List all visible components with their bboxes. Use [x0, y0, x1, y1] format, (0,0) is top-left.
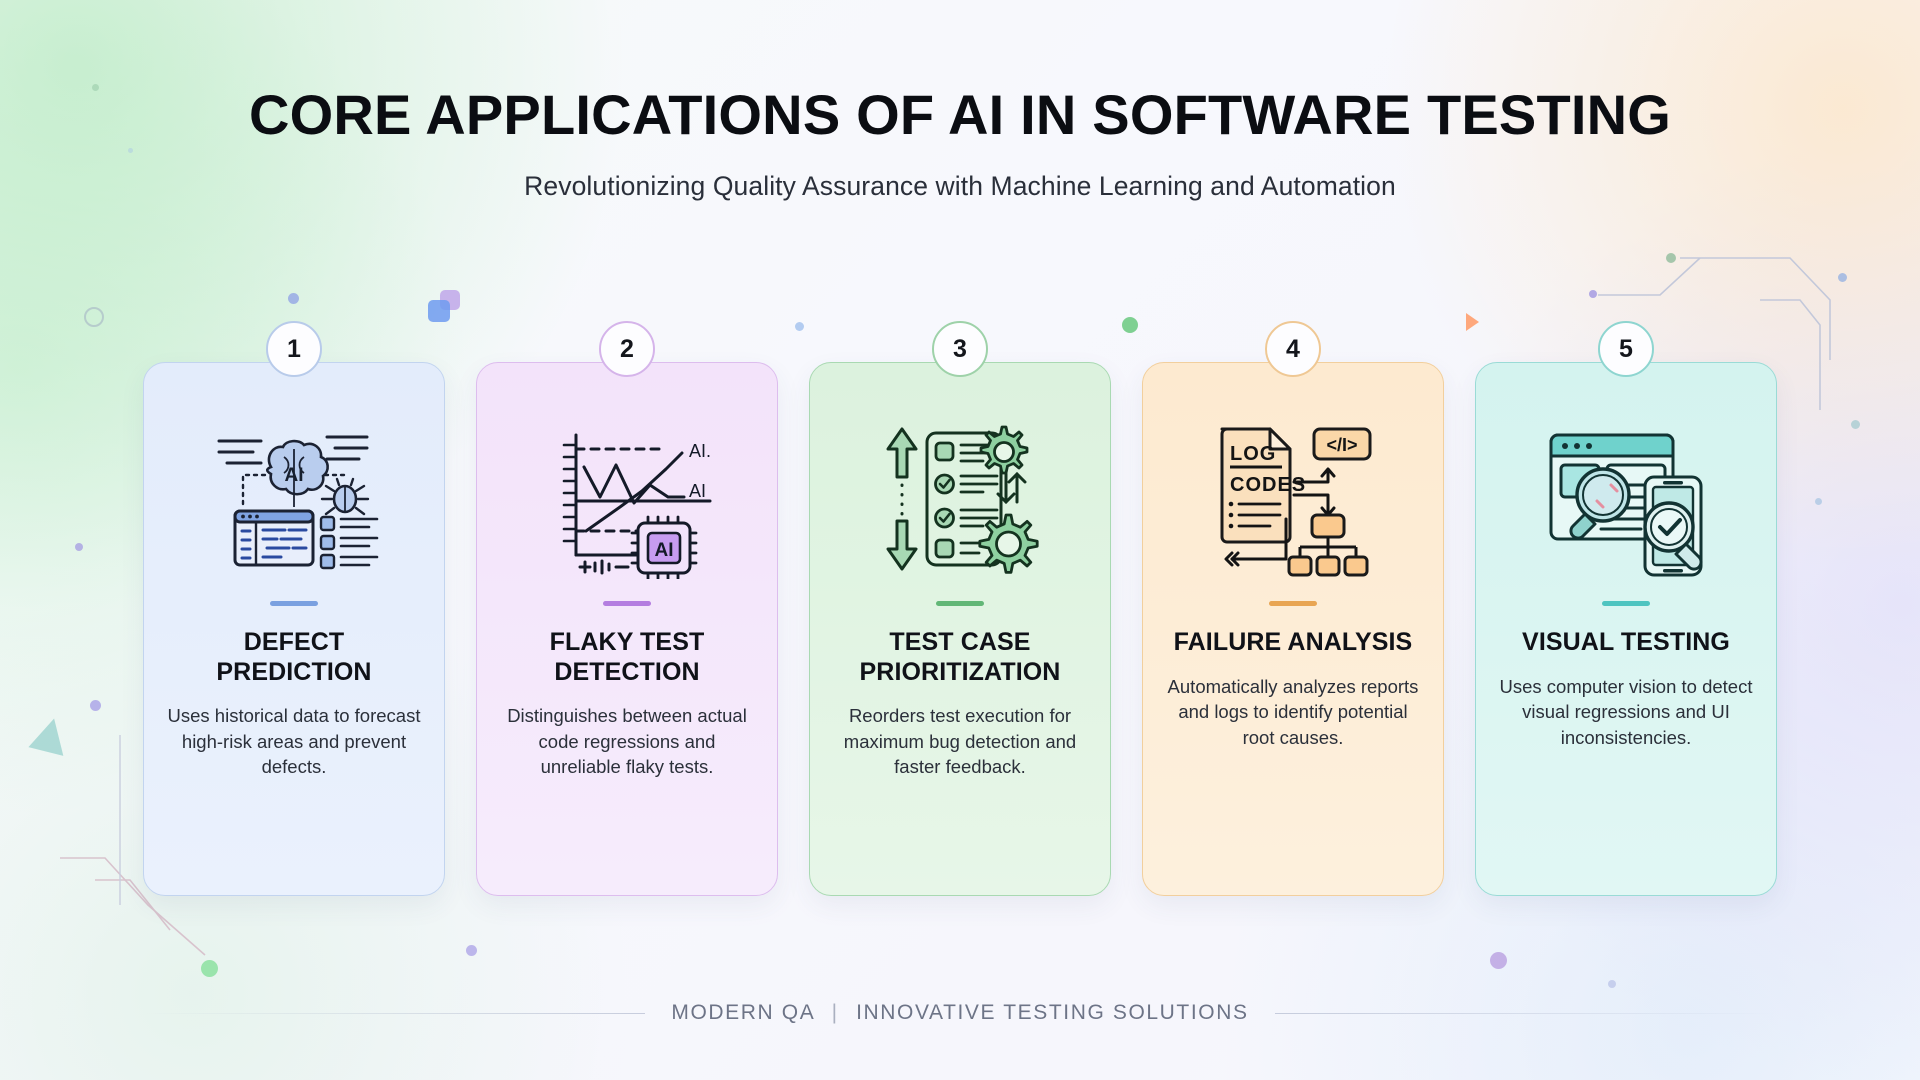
card-title: TEST CASE PRIORITIZATION [832, 628, 1088, 687]
svg-text:LOG: LOG [1230, 443, 1276, 465]
line-chart-ai-chip-icon: AI. AI AI [542, 419, 712, 579]
card-number: 1 [287, 335, 301, 364]
card-failure-analysis[interactable]: 4 LOG CODES [1142, 362, 1444, 896]
card-description: Uses historical data to forecast high-ri… [166, 703, 422, 780]
card-description: Uses computer vision to detect visual re… [1498, 674, 1754, 751]
svg-text:CODES: CODES [1230, 474, 1306, 496]
card-title: FAILURE ANALYSIS [1174, 628, 1413, 658]
card-accent-rule [1269, 601, 1317, 606]
card-number-badge: 2 [599, 321, 655, 377]
checklist-gears-arrows-icon [875, 419, 1045, 579]
card-body[interactable]: AI [143, 362, 445, 896]
card-description: Automatically analyzes reports and logs … [1165, 674, 1421, 751]
browser-magnifier-mobile-icon [1541, 419, 1711, 579]
card-title: VISUAL TESTING [1522, 628, 1730, 658]
ai-brain-bug-code-icon: AI [209, 419, 379, 579]
svg-text:AI: AI [655, 540, 674, 561]
card-body[interactable]: TEST CASE PRIORITIZATION Reorders test e… [809, 362, 1111, 896]
card-accent-rule [270, 601, 318, 606]
card-accent-rule [603, 601, 651, 606]
card-body[interactable]: LOG CODES </I> [1142, 362, 1444, 896]
card-title: FLAKY TEST DETECTION [499, 628, 755, 687]
card-number-badge: 4 [1265, 321, 1321, 377]
svg-text:AI: AI [689, 481, 706, 501]
card-flaky-test-detection[interactable]: 2 [476, 362, 778, 896]
card-number-badge: 5 [1598, 321, 1654, 377]
card-visual-testing[interactable]: 5 [1475, 362, 1777, 896]
cards-row: 1 [0, 362, 1920, 896]
log-codes-flowchart-icon: LOG CODES </I> [1208, 419, 1378, 579]
svg-text:AI: AI [285, 465, 304, 486]
footer-text: MODERN QA | INNOVATIVE TESTING SOLUTIONS [671, 1001, 1248, 1025]
footer-rule-left [145, 1013, 645, 1014]
footer-rule-right [1275, 1013, 1775, 1014]
footer: MODERN QA | INNOVATIVE TESTING SOLUTIONS [0, 1001, 1920, 1025]
card-body[interactable]: VISUAL TESTING Uses computer vision to d… [1475, 362, 1777, 896]
card-number: 3 [953, 335, 967, 364]
card-description: Distinguishes between actual code regres… [499, 703, 755, 780]
card-defect-prediction[interactable]: 1 [143, 362, 445, 896]
footer-left-label: MODERN QA [671, 1001, 814, 1024]
svg-text:AI.: AI. [689, 441, 711, 461]
card-number: 2 [620, 335, 634, 364]
card-accent-rule [936, 601, 984, 606]
card-body[interactable]: AI. AI AI [476, 362, 778, 896]
header: CORE APPLICATIONS OF AI IN SOFTWARE TEST… [0, 86, 1920, 202]
svg-text:</I>: </I> [1326, 435, 1357, 455]
card-number-badge: 1 [266, 321, 322, 377]
card-accent-rule [1602, 601, 1650, 606]
page-subtitle: Revolutionizing Quality Assurance with M… [0, 171, 1920, 202]
page-title: CORE APPLICATIONS OF AI IN SOFTWARE TEST… [0, 86, 1920, 145]
infographic-canvas: CORE APPLICATIONS OF AI IN SOFTWARE TEST… [0, 0, 1920, 1080]
card-test-case-prioritization[interactable]: 3 [809, 362, 1111, 896]
card-title: DEFECT PREDICTION [166, 628, 422, 687]
card-number: 5 [1619, 335, 1633, 364]
card-number: 4 [1286, 335, 1300, 364]
card-description: Reorders test execution for maximum bug … [832, 703, 1088, 780]
card-number-badge: 3 [932, 321, 988, 377]
footer-right-label: INNOVATIVE TESTING SOLUTIONS [856, 1001, 1249, 1024]
footer-separator: | [822, 1001, 849, 1024]
